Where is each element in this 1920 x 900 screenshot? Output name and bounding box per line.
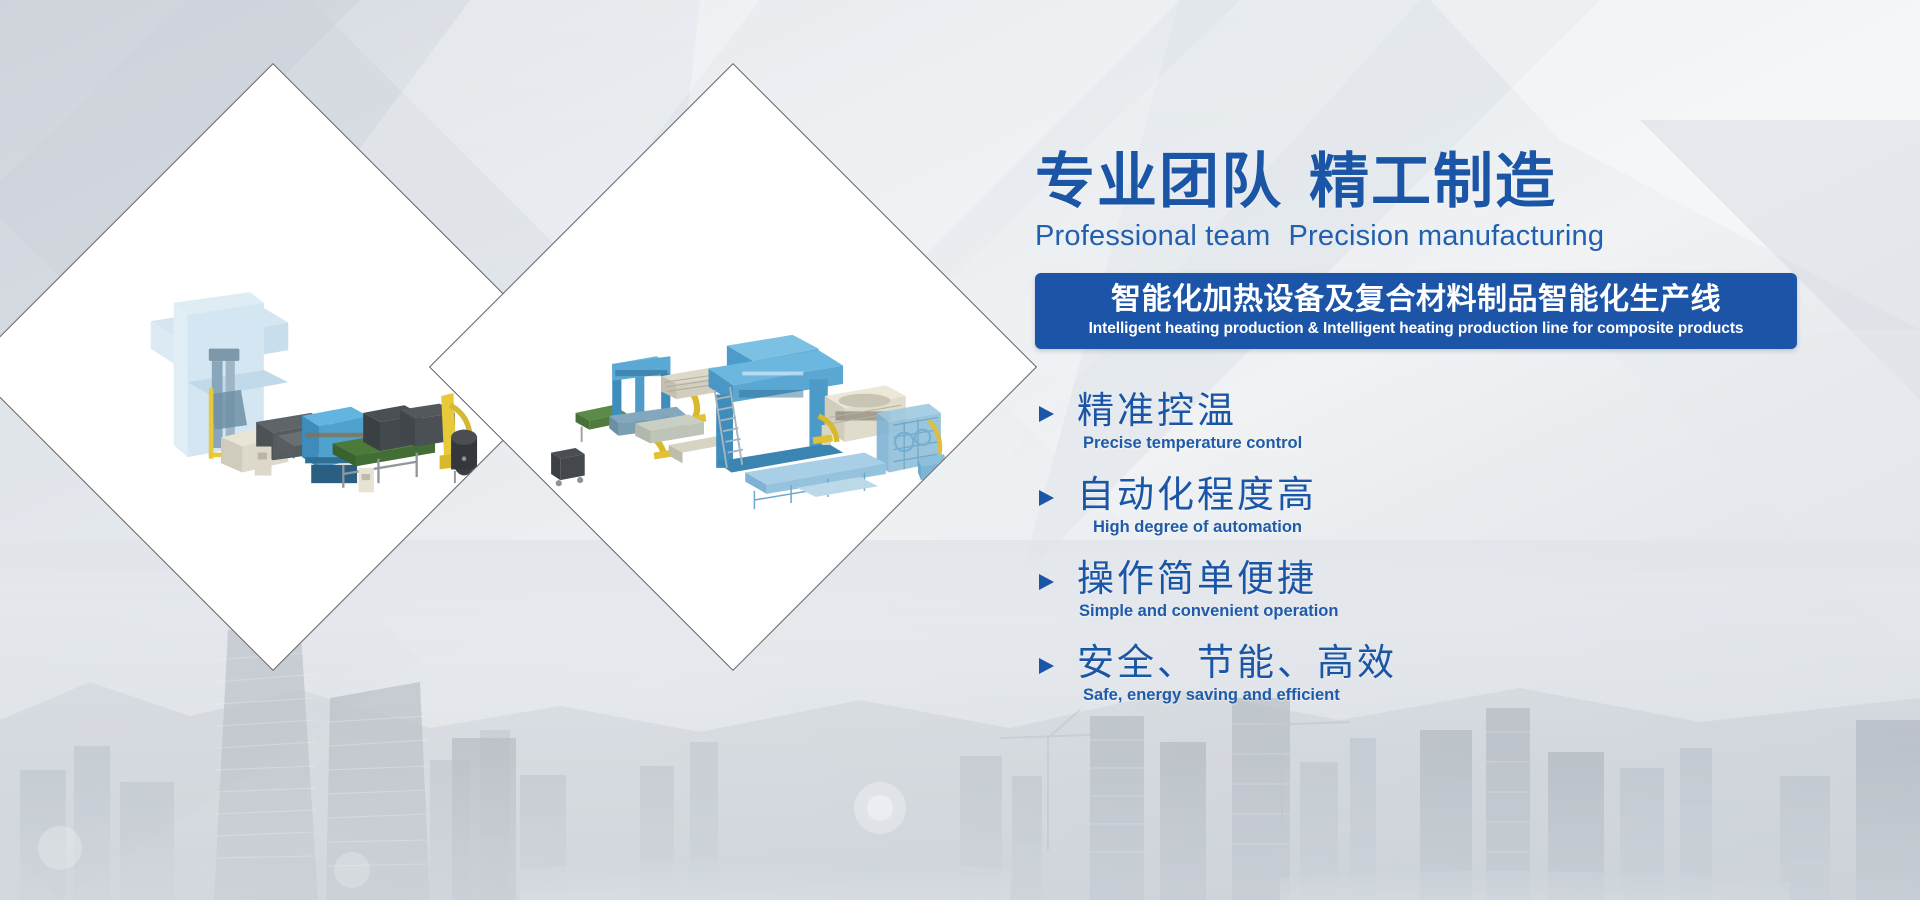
feature-cn: 操作简单便捷 bbox=[1077, 557, 1338, 601]
feature-item: 安全、节能、高效 Safe, energy saving and efficie… bbox=[1035, 641, 1795, 703]
feature-cn: 安全、节能、高效 bbox=[1077, 641, 1397, 685]
feature-text: 精准控温 Precise temperature control bbox=[1077, 389, 1302, 451]
triangle-right-icon bbox=[1035, 571, 1057, 593]
feature-en: Safe, energy saving and efficient bbox=[1083, 687, 1397, 704]
triangle-right-icon bbox=[1035, 655, 1057, 677]
headline-en-part1: Professional team bbox=[1035, 220, 1271, 252]
promo-banner: 专业团队精工制造 Professional teamPrecision manu… bbox=[0, 0, 1920, 900]
headline-cn-part2: 精工制造 bbox=[1309, 148, 1557, 215]
feature-cn: 精准控温 bbox=[1077, 389, 1302, 433]
feature-item: 操作简单便捷 Simple and convenient operation bbox=[1035, 557, 1795, 619]
feature-list: 精准控温 Precise temperature control 自动化程度高 … bbox=[1035, 389, 1795, 704]
product-callout-box: 智能化加热设备及复合材料制品智能化生产线 Intelligent heating… bbox=[1035, 273, 1797, 349]
headline-cn-part1: 专业团队 bbox=[1035, 148, 1283, 215]
headline-en-part2: Precision manufacturing bbox=[1289, 220, 1605, 252]
product-callout-en: Intelligent heating production & Intelli… bbox=[1051, 320, 1781, 338]
page-subtitle: Professional teamPrecision manufacturing bbox=[1035, 220, 1795, 253]
triangle-right-icon bbox=[1035, 487, 1057, 509]
product-callout-cn: 智能化加热设备及复合材料制品智能化生产线 bbox=[1051, 282, 1781, 317]
feature-item: 自动化程度高 High degree of automation bbox=[1035, 473, 1795, 535]
feature-text: 安全、节能、高效 Safe, energy saving and efficie… bbox=[1077, 641, 1397, 703]
feature-en: Precise temperature control bbox=[1083, 435, 1302, 452]
feature-text: 操作简单便捷 Simple and convenient operation bbox=[1077, 557, 1338, 619]
triangle-right-icon bbox=[1035, 403, 1057, 425]
feature-en: High degree of automation bbox=[1093, 519, 1317, 536]
banner-content: 专业团队精工制造 Professional teamPrecision manu… bbox=[1035, 150, 1795, 726]
page-title: 专业团队精工制造 bbox=[1035, 150, 1795, 214]
feature-item: 精准控温 Precise temperature control bbox=[1035, 389, 1795, 451]
feature-text: 自动化程度高 High degree of automation bbox=[1077, 473, 1317, 535]
feature-cn: 自动化程度高 bbox=[1077, 473, 1317, 517]
feature-en: Simple and convenient operation bbox=[1079, 603, 1338, 620]
